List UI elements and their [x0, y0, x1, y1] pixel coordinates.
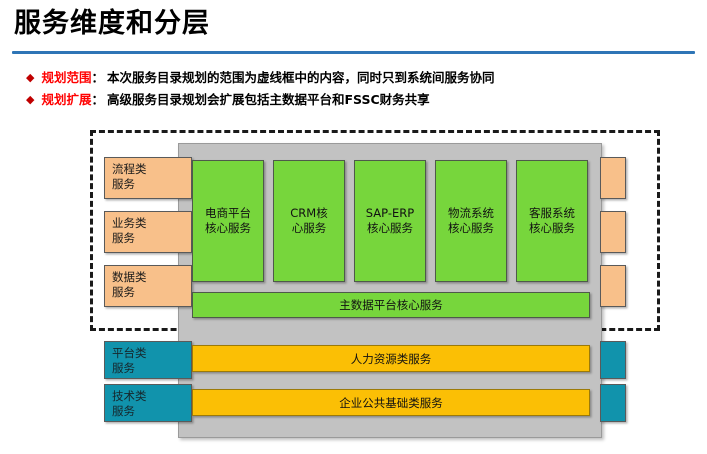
service-box-crm[interactable]: CRM核 心服务 — [273, 160, 345, 282]
category-label-line1: 技术类 — [112, 389, 191, 404]
category-label-line2: 服务 — [112, 404, 191, 419]
category-tab-technology[interactable]: 技术类 服务 — [104, 384, 192, 422]
service-label-line2: 核心服务 — [448, 221, 494, 235]
category-tab-process-right-stub — [600, 157, 626, 199]
service-label-line2: 核心服务 — [529, 221, 575, 235]
service-box-ecommerce-platform[interactable]: 电商平台 核心服务 — [192, 160, 264, 282]
category-tab-platform-right-stub — [600, 341, 626, 379]
service-label-line1: 客服系统 — [529, 206, 575, 220]
category-label-line1: 流程类 — [112, 162, 191, 177]
service-box-label: 物流系统 核心服务 — [448, 206, 494, 236]
category-label-line1: 数据类 — [112, 270, 191, 285]
category-label-line2: 服务 — [112, 361, 191, 376]
category-label-line2: 服务 — [112, 231, 191, 246]
category-tab-process[interactable]: 流程类 服务 — [104, 157, 192, 199]
service-bar-enterprise-common-infrastructure[interactable]: 企业公共基础类服务 — [192, 389, 590, 416]
service-label-line2: 心服务 — [292, 221, 327, 235]
service-label-line1: 电商平台 — [205, 206, 251, 220]
service-label-line1: SAP-ERP — [366, 206, 414, 220]
category-label-line2: 服务 — [112, 177, 191, 192]
service-bar-label: 主数据平台核心服务 — [339, 297, 443, 313]
service-bar-master-data-platform[interactable]: 主数据平台核心服务 — [192, 292, 590, 318]
service-box-customer-service[interactable]: 客服系统 核心服务 — [516, 160, 588, 282]
service-layer-diagram: 流程类 服务 业务类 服务 数据类 服务 平台类 服务 技术类 服务 电商平台 … — [0, 0, 707, 454]
service-label-line2: 核心服务 — [367, 221, 413, 235]
service-box-sap-erp[interactable]: SAP-ERP 核心服务 — [354, 160, 426, 282]
category-label-line1: 业务类 — [112, 216, 191, 231]
service-box-label: CRM核 心服务 — [290, 206, 327, 236]
category-tab-data-right-stub — [600, 265, 626, 307]
service-bar-label: 企业公共基础类服务 — [339, 395, 443, 411]
service-label-line1: CRM核 — [290, 206, 327, 220]
category-label-line2: 服务 — [112, 285, 191, 300]
category-tab-business[interactable]: 业务类 服务 — [104, 211, 192, 253]
service-box-label: 电商平台 核心服务 — [205, 206, 251, 236]
service-bar-label: 人力资源类服务 — [351, 351, 432, 367]
category-label-line1: 平台类 — [112, 346, 191, 361]
service-box-label: 客服系统 核心服务 — [529, 206, 575, 236]
service-label-line1: 物流系统 — [448, 206, 494, 220]
service-box-label: SAP-ERP 核心服务 — [366, 206, 414, 236]
category-tab-data[interactable]: 数据类 服务 — [104, 265, 192, 307]
category-tab-platform[interactable]: 平台类 服务 — [104, 341, 192, 379]
service-box-logistics[interactable]: 物流系统 核心服务 — [435, 160, 507, 282]
category-tab-business-right-stub — [600, 211, 626, 253]
category-tab-technology-right-stub — [600, 384, 626, 422]
service-bar-human-resources[interactable]: 人力资源类服务 — [192, 345, 590, 372]
service-label-line2: 核心服务 — [205, 221, 251, 235]
